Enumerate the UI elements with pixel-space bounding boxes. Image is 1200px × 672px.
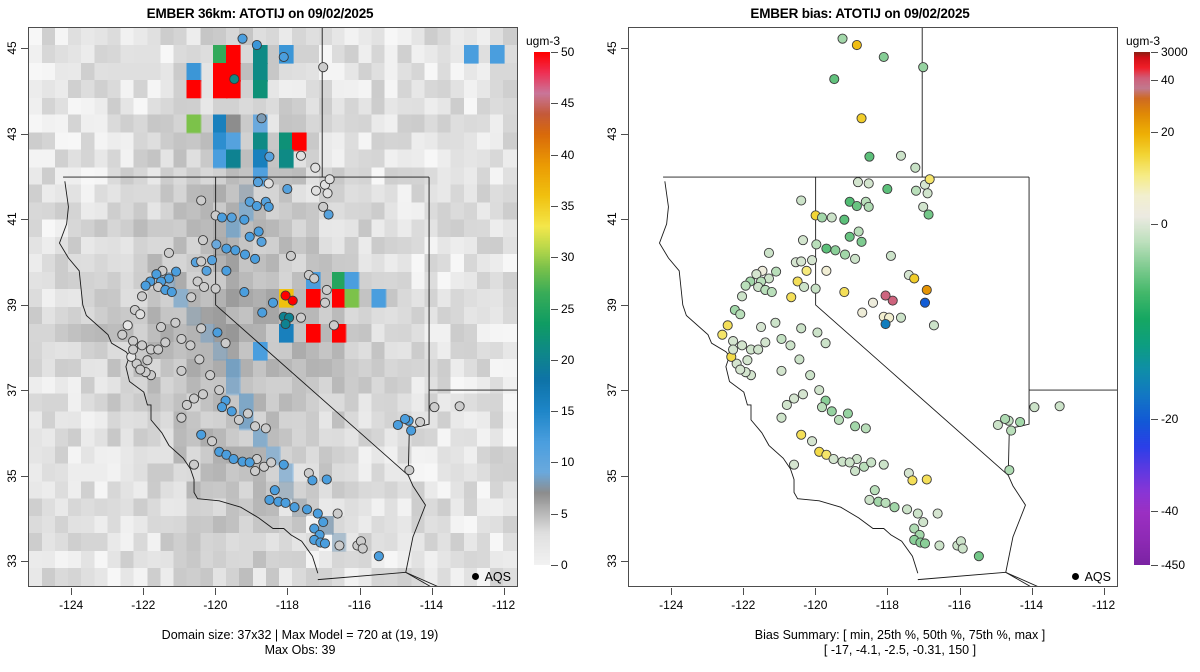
monitor-point[interactable]: [764, 248, 773, 257]
y-tickmark: [621, 219, 628, 220]
monitor-point[interactable]: [858, 308, 867, 317]
y-tick-label: 33: [5, 555, 19, 568]
monitor-point[interactable]: [925, 175, 934, 184]
monitor-point[interactable]: [843, 409, 852, 418]
colorbar-tick-label: 35: [561, 199, 574, 213]
monitor-point[interactable]: [128, 336, 137, 345]
monitor-point[interactable]: [270, 486, 279, 495]
monitor-point[interactable]: [234, 415, 243, 424]
colorbar-tick-label: -450: [1161, 558, 1185, 572]
aqs-legend-label-bias: AQS: [1085, 570, 1111, 584]
y-tick-label: 37: [605, 384, 619, 397]
monitor-point[interactable]: [777, 413, 786, 422]
monitor-point[interactable]: [333, 509, 342, 518]
monitor-point[interactable]: [831, 246, 840, 255]
monitor-point[interactable]: [723, 321, 732, 330]
monitor-point[interactable]: [164, 248, 173, 257]
monitor-point[interactable]: [920, 539, 929, 548]
monitor-point[interactable]: [879, 460, 888, 469]
monitor-point[interactable]: [813, 328, 822, 337]
monitor-point[interactable]: [221, 339, 230, 348]
monitor-point[interactable]: [227, 407, 236, 416]
x-tick-label: -112: [1092, 598, 1115, 612]
model-colorbar-title: ugm-3: [526, 34, 560, 48]
monitor-point[interactable]: [718, 330, 727, 339]
colorbar-tick-label: 15: [561, 404, 574, 418]
monitor-point[interactable]: [281, 291, 290, 300]
bias-panel: EMBER bias: ATOTIJ on 09/02/2025 AQS 333…: [600, 0, 1200, 672]
model-caption-line1: Domain size: 37x32 | Max Model = 720 at …: [0, 628, 600, 643]
monitor-point[interactable]: [821, 339, 830, 348]
monitor-point[interactable]: [322, 475, 331, 484]
monitor-point[interactable]: [222, 266, 231, 275]
monitor-point[interactable]: [756, 322, 765, 331]
monitor-point[interactable]: [815, 386, 824, 395]
monitor-point[interactable]: [137, 292, 146, 301]
monitor-point[interactable]: [227, 213, 236, 222]
y-tickmark: [621, 305, 628, 306]
colorbar-tick-label: 40: [561, 148, 574, 162]
monitor-point[interactable]: [186, 341, 195, 350]
x-tickmark: [71, 588, 72, 595]
x-tick-label: -120: [203, 598, 227, 612]
aqs-bias-points[interactable]: [629, 28, 1117, 586]
monitor-point[interactable]: [958, 544, 967, 553]
monitor-point[interactable]: [817, 213, 826, 222]
x-tickmark: [1032, 588, 1033, 595]
monitor-point[interactable]: [319, 63, 328, 72]
monitor-point[interactable]: [261, 424, 270, 433]
monitor-point[interactable]: [864, 179, 873, 188]
monitor-point[interactable]: [123, 321, 132, 330]
monitor-point[interactable]: [217, 213, 226, 222]
model-caption-line2: Max Obs: 39: [0, 643, 600, 658]
monitor-point[interactable]: [879, 52, 888, 61]
monitor-point[interactable]: [881, 319, 890, 328]
monitor-point[interactable]: [786, 341, 795, 350]
x-tick-label: -124: [659, 598, 683, 612]
monitor-point[interactable]: [890, 503, 899, 512]
monitor-point[interactable]: [806, 371, 815, 380]
monitor-point[interactable]: [933, 509, 942, 518]
monitor-point[interactable]: [281, 498, 290, 507]
colorbar-tickmark: [1151, 224, 1158, 225]
monitor-point[interactable]: [374, 552, 383, 561]
monitor-point[interactable]: [187, 293, 196, 302]
monitor-point[interactable]: [197, 324, 206, 333]
monitor-point[interactable]: [797, 257, 806, 266]
monitor-point[interactable]: [215, 386, 224, 395]
monitor-point[interactable]: [919, 63, 928, 72]
y-tick-label: 39: [5, 298, 19, 311]
monitor-point[interactable]: [324, 210, 333, 219]
colorbar-tickmark: [551, 206, 558, 207]
colorbar-tickmark: [551, 257, 558, 258]
x-tick-label: -122: [731, 598, 755, 612]
colorbar-tickmark: [551, 514, 558, 515]
monitor-point[interactable]: [867, 458, 876, 467]
bias-map-plot[interactable]: AQS: [628, 27, 1118, 587]
monitor-point[interactable]: [811, 284, 820, 293]
monitor-point[interactable]: [290, 503, 299, 512]
monitor-point[interactable]: [797, 196, 806, 205]
monitor-point[interactable]: [197, 257, 206, 266]
monitor-point[interactable]: [265, 495, 274, 504]
monitor-point[interactable]: [264, 202, 273, 211]
monitor-point[interactable]: [206, 371, 215, 380]
monitor-point[interactable]: [922, 475, 931, 484]
monitor-point[interactable]: [728, 345, 737, 354]
monitor-point[interactable]: [919, 518, 928, 527]
monitor-point[interactable]: [910, 274, 919, 283]
monitor-point[interactable]: [883, 184, 892, 193]
monitor-point[interactable]: [812, 240, 821, 249]
monitor-point[interactable]: [974, 552, 983, 561]
y-tickmark: [621, 476, 628, 477]
y-tick-label: 33: [605, 555, 619, 568]
monitor-point[interactable]: [264, 179, 273, 188]
bias-panel-title: EMBER bias: ATOTIJ on 09/02/2025: [600, 6, 1120, 21]
monitor-point[interactable]: [761, 338, 770, 347]
monitor-point[interactable]: [830, 75, 839, 84]
monitor-point[interactable]: [222, 244, 231, 253]
monitor-point[interactable]: [167, 287, 176, 296]
monitor-point[interactable]: [865, 495, 874, 504]
monitor-point[interactable]: [850, 466, 859, 475]
monitor-point[interactable]: [279, 460, 288, 469]
monitor-point[interactable]: [283, 184, 292, 193]
monitor-point[interactable]: [302, 505, 311, 514]
monitor-point[interactable]: [156, 322, 165, 331]
y-tickmark: [21, 48, 28, 49]
monitor-point[interactable]: [177, 334, 186, 343]
monitor-point[interactable]: [405, 466, 414, 475]
monitor-point[interactable]: [1005, 466, 1014, 475]
monitor-point[interactable]: [195, 355, 204, 364]
monitor-point[interactable]: [852, 40, 861, 49]
y-tickmark: [21, 134, 28, 135]
x-tick-label: -122: [131, 598, 155, 612]
monitor-point[interactable]: [252, 201, 261, 210]
monitor-point[interactable]: [736, 310, 745, 319]
monitor-point[interactable]: [323, 189, 332, 198]
monitor-point[interactable]: [736, 365, 745, 374]
monitor-point[interactable]: [320, 539, 329, 548]
monitor-point[interactable]: [213, 328, 222, 337]
monitor-point[interactable]: [319, 518, 328, 527]
monitor-point[interactable]: [240, 287, 249, 296]
colorbar-tickmark: [1151, 511, 1158, 512]
monitor-point[interactable]: [281, 319, 290, 328]
monitor-point[interactable]: [154, 345, 163, 354]
monitor-point[interactable]: [430, 403, 439, 412]
monitor-point[interactable]: [311, 163, 320, 172]
y-tick-label: 35: [605, 469, 619, 482]
monitor-point[interactable]: [902, 505, 911, 514]
x-tickmark: [671, 588, 672, 595]
monitor-point[interactable]: [265, 152, 274, 161]
monitor-point[interactable]: [268, 298, 277, 307]
monitor-point[interactable]: [807, 256, 816, 265]
y-tickmark: [21, 476, 28, 477]
monitor-point[interactable]: [240, 250, 249, 259]
monitor-point[interactable]: [189, 460, 198, 469]
monitor-point[interactable]: [207, 437, 216, 446]
monitor-point[interactable]: [868, 298, 877, 307]
monitor-point[interactable]: [250, 466, 259, 475]
colorbar-tickmark: [1151, 419, 1158, 420]
monitor-point[interactable]: [325, 175, 334, 184]
monitor-point[interactable]: [854, 227, 863, 236]
monitor-point[interactable]: [881, 291, 890, 300]
monitor-point[interactable]: [320, 298, 329, 307]
monitor-point[interactable]: [834, 415, 843, 424]
monitor-point[interactable]: [171, 318, 180, 327]
monitor-point[interactable]: [935, 541, 944, 550]
monitor-point[interactable]: [853, 178, 862, 187]
monitor-point[interactable]: [798, 390, 807, 399]
monitor-point[interactable]: [310, 274, 319, 283]
monitor-point[interactable]: [329, 321, 338, 330]
monitor-point[interactable]: [177, 413, 186, 422]
monitor-point[interactable]: [253, 178, 262, 187]
monitor-point[interactable]: [789, 460, 798, 469]
y-tick-label: 35: [5, 469, 19, 482]
monitor-point[interactable]: [838, 34, 847, 43]
monitor-point[interactable]: [198, 236, 207, 245]
monitor-point[interactable]: [840, 215, 849, 224]
colorbar-tickmark: [1151, 565, 1158, 566]
x-tick-label: -114: [420, 598, 443, 612]
monitor-point[interactable]: [817, 403, 826, 412]
bias-colorbar-title: ugm-3: [1126, 34, 1160, 48]
monitor-point[interactable]: [852, 201, 861, 210]
colorbar-tick-label: -20: [1161, 412, 1178, 426]
monitor-point[interactable]: [136, 365, 145, 374]
colorbar-tick-label: 3000: [1161, 45, 1188, 59]
monitor-point[interactable]: [789, 394, 798, 403]
monitor-point[interactable]: [870, 486, 879, 495]
monitor-point[interactable]: [407, 426, 416, 435]
monitor-point[interactable]: [911, 163, 920, 172]
monitor-point[interactable]: [924, 210, 933, 219]
monitor-point[interactable]: [258, 308, 267, 317]
monitor-point[interactable]: [923, 189, 932, 198]
monitor-point[interactable]: [861, 424, 870, 433]
y-tick-label: 37: [5, 384, 19, 397]
monitor-point[interactable]: [896, 313, 905, 322]
monitor-point[interactable]: [198, 390, 207, 399]
monitor-point[interactable]: [741, 281, 750, 290]
monitor-point[interactable]: [896, 151, 905, 160]
monitor-point[interactable]: [212, 240, 221, 249]
monitor-point[interactable]: [217, 403, 226, 412]
monitor-point[interactable]: [797, 430, 806, 439]
colorbar-tick-label: -40: [1161, 504, 1178, 518]
y-tickmark: [21, 305, 28, 306]
monitor-point[interactable]: [857, 114, 866, 123]
monitor-point[interactable]: [137, 341, 146, 350]
monitor-point[interactable]: [1030, 403, 1039, 412]
monitor-point[interactable]: [881, 498, 890, 507]
colorbar-tick-label: 30: [561, 250, 574, 264]
monitor-point[interactable]: [771, 318, 780, 327]
monitor-point[interactable]: [913, 509, 922, 518]
y-tick-label: 41: [605, 213, 619, 226]
colorbar-tickmark: [551, 360, 558, 361]
monitor-point[interactable]: [358, 544, 367, 553]
monitor-point[interactable]: [189, 394, 198, 403]
monitor-point[interactable]: [1055, 402, 1064, 411]
monitor-point[interactable]: [240, 215, 249, 224]
monitor-point[interactable]: [802, 266, 811, 275]
monitor-point[interactable]: [200, 282, 209, 291]
y-tickmark: [621, 561, 628, 562]
monitor-point[interactable]: [737, 292, 746, 301]
monitor-point[interactable]: [920, 298, 929, 307]
monitor-point[interactable]: [864, 202, 873, 211]
colorbar-tickmark: [551, 103, 558, 104]
monitor-point[interactable]: [182, 400, 191, 409]
monitor-point[interactable]: [800, 282, 809, 291]
monitor-point[interactable]: [850, 254, 859, 263]
monitor-point[interactable]: [197, 430, 206, 439]
monitor-point[interactable]: [143, 356, 152, 365]
monitor-point[interactable]: [850, 422, 859, 431]
colorbar-tickmark: [551, 565, 558, 566]
monitor-point[interactable]: [197, 196, 206, 205]
monitor-point[interactable]: [782, 400, 791, 409]
monitor-point[interactable]: [308, 476, 317, 485]
x-tick-label: -120: [803, 598, 827, 612]
monitor-point[interactable]: [827, 407, 836, 416]
monitor-point[interactable]: [211, 284, 220, 293]
monitor-point[interactable]: [737, 341, 746, 350]
monitor-point[interactable]: [455, 402, 464, 411]
monitor-point[interactable]: [822, 244, 831, 253]
colorbar-tickmark: [1151, 52, 1158, 53]
monitor-point[interactable]: [267, 458, 276, 467]
monitor-point[interactable]: [238, 34, 247, 43]
monitor-point[interactable]: [795, 355, 804, 364]
monitor-point[interactable]: [754, 345, 763, 354]
monitor-point[interactable]: [777, 334, 786, 343]
monitor-point[interactable]: [202, 266, 211, 275]
monitor-point[interactable]: [416, 417, 425, 426]
monitor-point[interactable]: [250, 422, 259, 431]
monitor-point[interactable]: [250, 254, 259, 263]
monitor-point[interactable]: [822, 266, 831, 275]
monitor-point[interactable]: [827, 213, 836, 222]
colorbar-tick-label: 25: [561, 302, 574, 316]
monitor-point[interactable]: [767, 287, 776, 296]
monitor-point[interactable]: [922, 285, 931, 294]
monitor-point[interactable]: [797, 324, 806, 333]
monitor-point[interactable]: [243, 409, 252, 418]
monitor-point[interactable]: [929, 321, 938, 330]
monitor-point[interactable]: [335, 541, 344, 550]
bias-colorbar-gradient: [1134, 52, 1150, 565]
monitor-point[interactable]: [829, 454, 838, 463]
monitor-point[interactable]: [840, 250, 849, 259]
model-panel-title: EMBER 36km: ATOTIJ on 09/02/2025: [0, 6, 520, 21]
monitor-point[interactable]: [207, 256, 216, 265]
monitor-point[interactable]: [845, 232, 854, 241]
monitor-point[interactable]: [257, 114, 266, 123]
monitor-point[interactable]: [245, 232, 254, 241]
aqs-observation-points[interactable]: [29, 28, 517, 586]
monitor-point[interactable]: [296, 313, 305, 322]
colorbar-tick-label: 45: [561, 96, 574, 110]
monitor-point[interactable]: [141, 281, 150, 290]
y-tickmark: [621, 134, 628, 135]
x-tick-label: -118: [876, 598, 899, 612]
y-tick-label: 43: [5, 127, 19, 140]
monitor-point[interactable]: [1016, 417, 1025, 426]
monitor-point[interactable]: [286, 251, 295, 260]
monitor-point[interactable]: [840, 287, 849, 296]
monitor-point[interactable]: [118, 330, 127, 339]
monitor-point[interactable]: [322, 285, 331, 294]
monitor-point[interactable]: [743, 356, 752, 365]
monitor-point[interactable]: [857, 237, 866, 246]
monitor-point[interactable]: [128, 345, 137, 354]
monitor-point[interactable]: [230, 75, 239, 84]
monitor-point[interactable]: [911, 186, 920, 195]
colorbar-tickmark: [551, 462, 558, 463]
monitor-point[interactable]: [865, 152, 874, 161]
x-tickmark: [815, 588, 816, 595]
monitor-point[interactable]: [279, 52, 288, 61]
monitor-point[interactable]: [798, 236, 807, 245]
monitor-point[interactable]: [772, 267, 781, 276]
model-caption: Domain size: 37x32 | Max Model = 720 at …: [0, 628, 600, 658]
monitor-point[interactable]: [787, 293, 796, 302]
monitor-point[interactable]: [807, 437, 816, 446]
monitor-point[interactable]: [231, 246, 240, 255]
monitor-point[interactable]: [777, 366, 786, 375]
monitor-point[interactable]: [845, 458, 854, 467]
y-tickmark: [21, 561, 28, 562]
monitor-point[interactable]: [311, 186, 320, 195]
monitor-point[interactable]: [886, 251, 895, 260]
monitor-point[interactable]: [296, 151, 305, 160]
monitor-point[interactable]: [161, 338, 170, 347]
colorbar-tickmark: [551, 52, 558, 53]
monitor-point[interactable]: [229, 454, 238, 463]
monitor-point[interactable]: [254, 227, 263, 236]
monitor-point[interactable]: [172, 267, 181, 276]
aqs-legend-dot-icon: [472, 573, 479, 580]
monitor-point[interactable]: [252, 40, 261, 49]
monitor-point[interactable]: [136, 310, 145, 319]
monitor-point[interactable]: [177, 366, 186, 375]
x-tick-label: -114: [1020, 598, 1043, 612]
monitor-point[interactable]: [400, 414, 409, 423]
y-tick-label: 41: [5, 213, 19, 226]
monitor-point[interactable]: [257, 237, 266, 246]
monitor-point[interactable]: [245, 458, 254, 467]
monitor-point[interactable]: [1000, 414, 1009, 423]
bias-caption: Bias Summary: [ min, 25th %, 50th %, 75t…: [600, 628, 1200, 658]
monitor-point[interactable]: [728, 336, 737, 345]
monitor-point[interactable]: [908, 476, 917, 485]
x-tick-label: -116: [948, 598, 971, 612]
model-map-plot[interactable]: AQS: [28, 27, 518, 587]
x-tick-label: -112: [492, 598, 515, 612]
monitor-point[interactable]: [1007, 426, 1016, 435]
monitor-point[interactable]: [313, 509, 322, 518]
